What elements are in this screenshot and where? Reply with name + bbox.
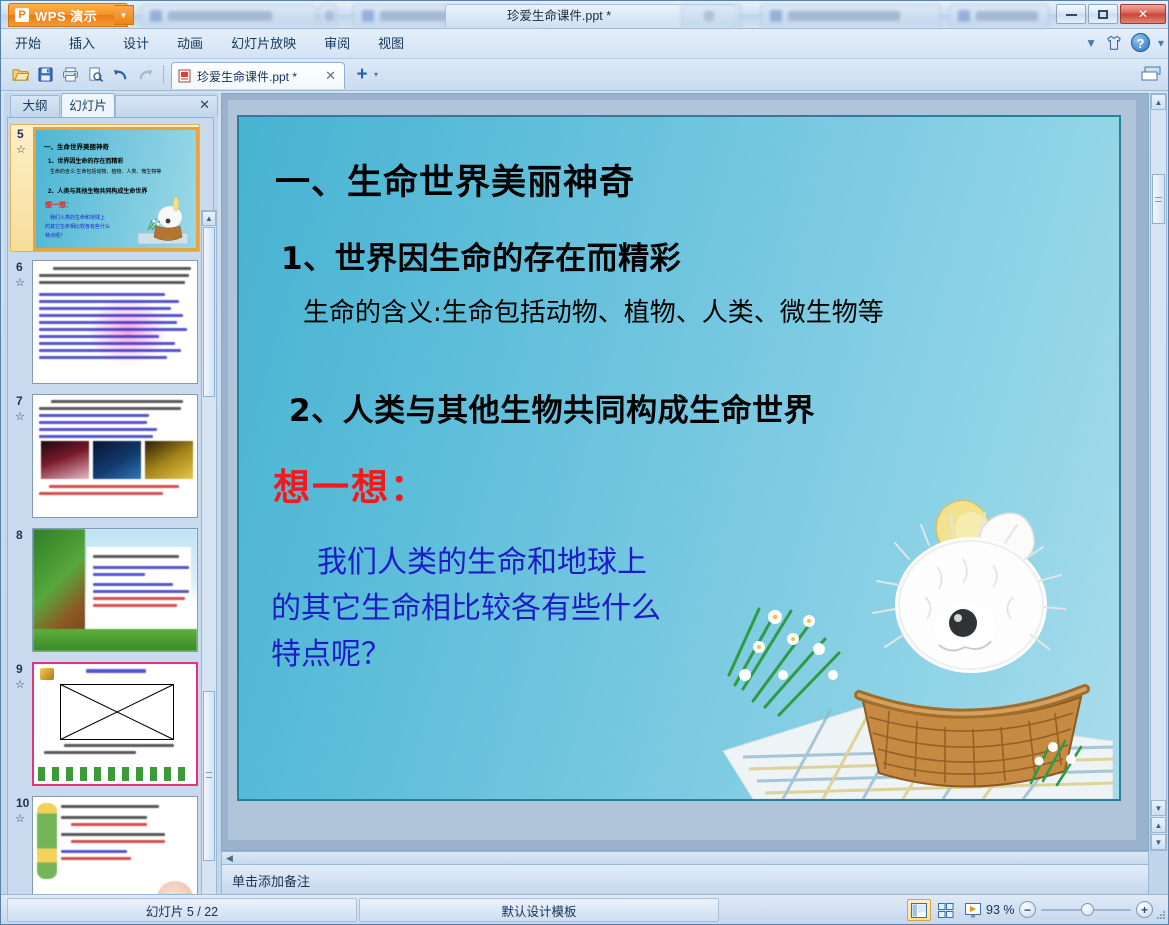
menu-item-design[interactable]: 设计 bbox=[109, 32, 163, 56]
quick-tools-group: ▼ bbox=[9, 63, 193, 85]
wps-presentation-window: P WPS 演示 ▼ 珍爱生命课件.ppt * bbox=[0, 0, 1169, 925]
scroll-grip-icon bbox=[206, 772, 212, 778]
menu-right-controls: ▼ ? ▾ bbox=[1085, 33, 1164, 52]
mini-point1: 1、世界因生命的存在而精彩 bbox=[48, 156, 123, 165]
zoom-out-button[interactable]: − bbox=[1019, 901, 1036, 918]
animation-star-icon: ☆ bbox=[15, 812, 25, 825]
normal-view-button[interactable] bbox=[907, 899, 931, 921]
minimize-icon bbox=[1066, 13, 1077, 16]
zoom-slider-knob[interactable] bbox=[1081, 903, 1094, 916]
slide-stage[interactable]: 一、生命世界美丽神奇 1、世界因生命的存在而精彩 生命的含义:生命包括动物、植物… bbox=[228, 100, 1136, 840]
scroll-up-button[interactable]: ▲ bbox=[1151, 94, 1166, 110]
previous-slide-button[interactable]: ▲ bbox=[1151, 817, 1166, 833]
pane-tabs: 大纲 幻灯片 ✕ bbox=[4, 93, 218, 117]
quick-access-toolbar: ▼ 珍爱生命课件.ppt * ✕ + ▾ bbox=[1, 59, 1169, 91]
thumbnail-number: 9 bbox=[16, 662, 23, 676]
help-icon[interactable]: ? bbox=[1131, 33, 1150, 52]
slide-thumbnail-list[interactable]: 5 ☆ 一、生命世界美丽神奇 1、世界因生命的存在而精彩 生命的含义:生命包括动… bbox=[7, 117, 214, 895]
tab-outline[interactable]: 大纲 bbox=[10, 95, 60, 117]
wps-app-badge[interactable]: P WPS 演示 bbox=[8, 3, 128, 27]
mini-title: 一、生命世界美丽神奇 bbox=[44, 141, 109, 151]
minimize-button[interactable] bbox=[1056, 4, 1086, 24]
animation-star-icon: ☆ bbox=[15, 410, 25, 423]
status-bar: 幻灯片 5 / 22 默认设计模板 bbox=[1, 894, 1169, 924]
thumbnail-scroll-thumb-lower[interactable] bbox=[203, 691, 215, 861]
menu-item-animation[interactable]: 动画 bbox=[163, 32, 217, 56]
print-icon[interactable] bbox=[59, 63, 81, 85]
leaf-border-decoration bbox=[38, 767, 192, 781]
slide-vertical-scrollbar[interactable]: ▲ ▼ ▲ ▼ bbox=[1150, 93, 1167, 851]
mini-rabbit-basket-image bbox=[134, 197, 192, 245]
undo-icon[interactable] bbox=[109, 63, 131, 85]
scroll-thumb[interactable] bbox=[1152, 174, 1165, 224]
mini-q3: 特点呢？ bbox=[45, 232, 65, 239]
thumbnail-preview bbox=[32, 260, 198, 384]
rabbit-in-basket-image[interactable] bbox=[713, 489, 1113, 799]
thumbnail-scrollbar[interactable]: ▲ ▼ bbox=[201, 210, 217, 925]
menu-item-slideshow[interactable]: 幻灯片放映 bbox=[217, 32, 310, 56]
mini-point1-sub: 生命的含义:生命包括动物、植物、人类、微生物等 bbox=[50, 168, 161, 175]
zoom-slider-track[interactable] bbox=[1041, 909, 1131, 911]
slides-outline-pane: 大纲 幻灯片 ✕ 5 ☆ 一、生命世界美丽神奇 1、世界因生命的存在而精彩 生命… bbox=[4, 93, 218, 895]
document-tab-close-icon[interactable]: ✕ bbox=[323, 68, 338, 84]
background-window-tab-6[interactable] bbox=[949, 4, 1049, 27]
zoom-in-button[interactable]: + bbox=[1136, 901, 1153, 918]
thumbnail-slide-5[interactable]: 5 ☆ 一、生命世界美丽神奇 1、世界因生命的存在而精彩 生命的含义:生命包括动… bbox=[10, 124, 200, 252]
title-bar: P WPS 演示 ▼ 珍爱生命课件.ppt * bbox=[1, 1, 1169, 29]
animation-star-icon: ☆ bbox=[15, 678, 25, 691]
thumbnail-scroll-up-button[interactable]: ▲ bbox=[202, 211, 216, 226]
thumbnail-slide-9[interactable]: 9 ☆ bbox=[10, 660, 200, 788]
grass-image bbox=[33, 629, 197, 651]
space-station-image bbox=[93, 441, 141, 479]
ghost-close bbox=[325, 11, 334, 21]
city-image bbox=[145, 441, 193, 479]
slideshow-icon bbox=[965, 903, 981, 918]
menu-item-review[interactable]: 审阅 bbox=[310, 32, 364, 56]
doc-icon bbox=[770, 10, 782, 22]
mini-q2: 的其它生命相比较各有些什么 bbox=[45, 223, 110, 230]
zoom-control[interactable]: − + bbox=[1019, 901, 1153, 918]
document-tab[interactable]: 珍爱生命课件.ppt * ✕ bbox=[171, 62, 345, 89]
ghost-label bbox=[168, 11, 272, 21]
presentation-file-icon bbox=[178, 69, 192, 83]
toolbar-separator bbox=[163, 65, 164, 83]
missing-media-placeholder bbox=[60, 684, 174, 740]
slide-think-label[interactable]: 想一想： bbox=[273, 457, 429, 511]
wps-logo-icon: P bbox=[15, 8, 29, 22]
menu-bar: 开始 插入 设计 动画 幻灯片放映 审阅 视图 ▼ ? ▾ bbox=[1, 29, 1169, 59]
notes-placeholder: 单击添加备注 bbox=[232, 874, 310, 889]
app-badge-dropdown-icon[interactable]: ▼ bbox=[114, 5, 134, 25]
status-template-name: 默认设计模板 bbox=[359, 898, 719, 922]
menu-item-insert[interactable]: 插入 bbox=[55, 32, 109, 56]
slide-question-line-1[interactable]: 我们人类的生命和地球上 bbox=[317, 537, 647, 581]
notes-splitter[interactable]: ◀ bbox=[221, 851, 1149, 865]
flower-decoration bbox=[37, 803, 57, 879]
slide-question-line-3[interactable]: 特点呢？ bbox=[271, 629, 391, 673]
pane-close-icon[interactable]: ✕ bbox=[199, 97, 210, 113]
slide-editor-area: 一、生命世界美丽神奇 1、世界因生命的存在而精彩 生命的含义:生命包括动物、植物… bbox=[221, 93, 1149, 851]
print-preview-icon[interactable] bbox=[84, 63, 106, 85]
menu-item-start[interactable]: 开始 bbox=[1, 32, 55, 56]
background-window-tab-5[interactable] bbox=[761, 4, 941, 27]
slide-sorter-button[interactable] bbox=[934, 899, 958, 921]
save-icon[interactable] bbox=[34, 63, 56, 85]
close-icon: ✕ bbox=[1138, 7, 1148, 21]
notes-pane[interactable]: 单击添加备注 bbox=[221, 865, 1149, 895]
thumbnail-preview bbox=[32, 394, 198, 518]
status-slide-info: 幻灯片 5 / 22 bbox=[7, 898, 357, 922]
animation-star-icon: ☆ bbox=[16, 143, 26, 156]
doc-icon bbox=[150, 10, 162, 22]
thumbnail-number: 8 bbox=[16, 528, 23, 542]
thumbnail-preview: 一、生命世界美丽神奇 1、世界因生命的存在而精彩 生命的含义:生命包括动物、植物… bbox=[33, 127, 199, 251]
thumbnail-number: 7 bbox=[16, 394, 23, 408]
thumbnail-number: 10 bbox=[16, 796, 29, 810]
normal-view-icon bbox=[911, 903, 927, 918]
animation-star-icon: ☆ bbox=[15, 276, 25, 289]
maximize-button[interactable] bbox=[1088, 4, 1118, 24]
skin-shirt-icon[interactable] bbox=[1105, 35, 1123, 51]
resize-grip-icon[interactable] bbox=[1155, 909, 1167, 921]
close-button[interactable]: ✕ bbox=[1120, 4, 1166, 24]
menu-item-view[interactable]: 视图 bbox=[364, 32, 418, 56]
document-tab-label: 珍爱生命课件.ppt * bbox=[197, 68, 318, 85]
background-window-tab-1[interactable] bbox=[141, 4, 316, 27]
slide-point-1[interactable]: 1、世界因生命的存在而精彩 bbox=[281, 233, 681, 278]
doc-icon bbox=[958, 10, 970, 22]
thumbnail-slide-8[interactable]: 8 bbox=[10, 526, 200, 654]
slide-sorter-icon bbox=[938, 903, 954, 918]
mini-q1: 我们人类的生命和地球上 bbox=[50, 214, 105, 221]
slide-point-2[interactable]: 2、人类与其他生物共同构成生命世界 bbox=[289, 385, 815, 430]
app-badge-label: WPS 演示 bbox=[35, 6, 97, 25]
open-icon[interactable] bbox=[9, 63, 31, 85]
mini-think: 想一想： bbox=[45, 200, 73, 210]
active-document-title: 珍爱生命课件.ppt * bbox=[449, 4, 669, 28]
thumbnail-preview bbox=[32, 796, 198, 895]
new-tab-button[interactable]: + bbox=[351, 64, 373, 86]
book-icon bbox=[40, 668, 54, 680]
thumbnail-slide-7[interactable]: 7 ☆ bbox=[10, 392, 200, 520]
help-dropdown-icon[interactable]: ▾ bbox=[1158, 36, 1164, 50]
mini-point2: 2、人类与其他生物共同构成生命世界 bbox=[48, 186, 147, 195]
slide-point-1-sub[interactable]: 生命的含义:生命包括动物、植物、人类、微生物等 bbox=[303, 292, 884, 329]
doc-icon bbox=[362, 10, 374, 22]
maximize-icon bbox=[1098, 10, 1108, 19]
view-mode-buttons bbox=[907, 899, 985, 921]
thumbnail-preview bbox=[32, 662, 198, 786]
ghost-label bbox=[788, 11, 900, 21]
thumbnail-scroll-thumb[interactable] bbox=[203, 227, 215, 397]
piglet-image bbox=[157, 881, 193, 895]
zoom-level-label: 93 % bbox=[986, 903, 1015, 917]
thumbnail-slide-10[interactable]: 10 ☆ bbox=[10, 794, 200, 895]
current-slide-canvas[interactable]: 一、生命世界美丽神奇 1、世界因生命的存在而精彩 生命的含义:生命包括动物、植物… bbox=[237, 115, 1121, 801]
slide-question-line-2[interactable]: 的其它生命相比较各有些什么 bbox=[271, 583, 661, 627]
slide-title-text[interactable]: 一、生命世界美丽神奇 bbox=[275, 154, 635, 205]
ghost-label bbox=[976, 11, 1038, 21]
rocket-launch-image bbox=[41, 441, 89, 479]
tab-slides[interactable]: 幻灯片 bbox=[61, 93, 115, 117]
thumbnail-number: 6 bbox=[16, 260, 23, 274]
window-controls: ✕ bbox=[1054, 4, 1166, 24]
thumbnail-preview bbox=[32, 528, 198, 652]
thumbnail-slide-6[interactable]: 6 ☆ bbox=[10, 258, 200, 386]
background-window-tab-4[interactable] bbox=[681, 4, 741, 27]
restore-panes-icon[interactable] bbox=[1140, 65, 1162, 83]
chevron-down-icon[interactable]: ▼ bbox=[1085, 36, 1097, 50]
ghost-close bbox=[704, 11, 714, 21]
scroll-grip-icon bbox=[1155, 197, 1162, 202]
collapse-left-icon[interactable]: ◀ bbox=[226, 853, 233, 864]
thumbnail-number: 5 bbox=[17, 127, 24, 141]
redo-icon[interactable] bbox=[134, 63, 156, 85]
background-window-tab-2[interactable] bbox=[319, 4, 337, 27]
next-slide-button[interactable]: ▼ bbox=[1151, 834, 1166, 850]
scroll-down-button[interactable]: ▼ bbox=[1151, 800, 1166, 816]
slideshow-button[interactable] bbox=[961, 899, 985, 921]
new-tab-dropdown-icon[interactable]: ▾ bbox=[374, 70, 378, 79]
